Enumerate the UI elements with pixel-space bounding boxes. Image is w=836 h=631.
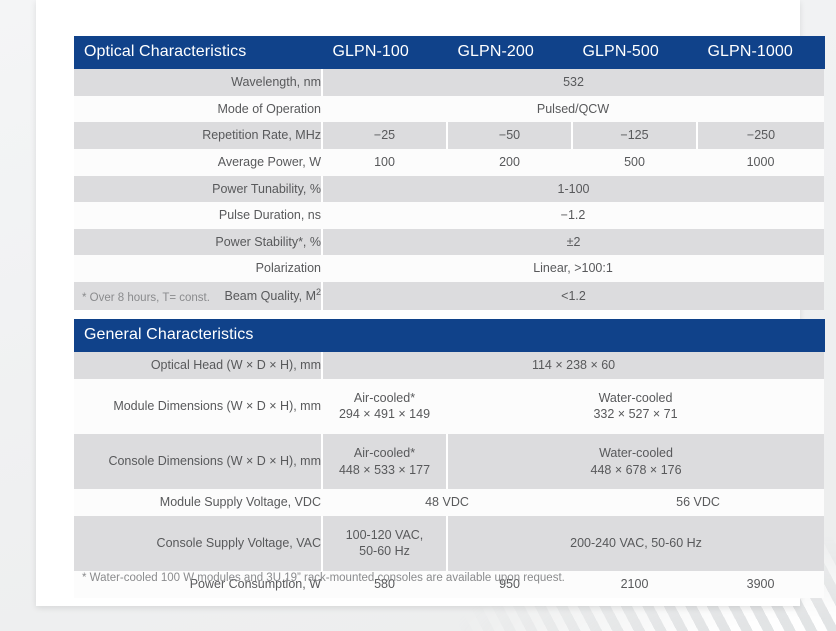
- datasheet-page-card: Optical Characteristics GLPN-100 GLPN-20…: [36, 0, 800, 606]
- table-row: PolarizationLinear, >100:1: [74, 255, 824, 282]
- general-section-title: General Characteristics: [74, 319, 824, 352]
- optical-table-header-row: Optical Characteristics GLPN-100 GLPN-20…: [74, 36, 824, 69]
- table-row-label: Repetition Rate, MHz: [74, 122, 322, 149]
- table-row-label: Console Dimensions (W × D × H), mm: [74, 434, 322, 489]
- table-cell-value: −50: [447, 122, 572, 149]
- table-row-label: Mode of Operation: [74, 96, 322, 123]
- general-characteristics-table: General Characteristics Optical Head (W …: [74, 319, 825, 598]
- table-cell-value: Pulsed/QCW: [322, 96, 824, 123]
- table-cell-value: 114 × 238 × 60: [322, 352, 824, 379]
- table-cell-value: <1.2: [322, 282, 824, 310]
- general-footnote: * Water-cooled 100 W modules and 3U 19” …: [82, 572, 565, 584]
- table-cell-value: −1.2: [322, 202, 824, 229]
- table-cell-value: 200-240 VAC, 50-60 Hz: [447, 516, 824, 571]
- table-row: Average Power, W1002005001000: [74, 149, 824, 176]
- table-cell-value: Water-cooled332 × 527 × 71: [447, 379, 824, 434]
- table-cell-value: 100: [322, 149, 447, 176]
- table-cell-value: Water-cooled448 × 678 × 176: [447, 434, 824, 489]
- table-row: Module Dimensions (W × D × H), mmAir-coo…: [74, 379, 824, 434]
- table-row: Mode of OperationPulsed/QCW: [74, 96, 824, 123]
- table-cell-value: −125: [572, 122, 697, 149]
- table-cell-value: −25: [322, 122, 447, 149]
- table-row-label: Polarization: [74, 255, 322, 282]
- table-row: Wavelength, nm532: [74, 69, 824, 96]
- table-row-label: Module Supply Voltage, VDC: [74, 489, 322, 516]
- column-header-model-1: GLPN-100: [322, 36, 447, 69]
- table-row: Pulse Duration, ns−1.2: [74, 202, 824, 229]
- table-row-label: Pulse Duration, ns: [74, 202, 322, 229]
- table-row: Power Tunability, %1-100: [74, 176, 824, 203]
- table-row-label: Module Dimensions (W × D × H), mm: [74, 379, 322, 434]
- table-cell-value: Air-cooled*294 × 491 × 149: [322, 379, 447, 434]
- table-cell-value: 3900: [697, 571, 824, 598]
- table-row: Module Supply Voltage, VDC48 VDC56 VDC: [74, 489, 824, 516]
- table-cell-value: 2100: [572, 571, 697, 598]
- table-cell-value: 1-100: [322, 176, 824, 203]
- table-cell-value: −250: [697, 122, 824, 149]
- column-header-model-4: GLPN-1000: [697, 36, 824, 69]
- table-row: Repetition Rate, MHz−25−50−125−250: [74, 122, 824, 149]
- table-cell-value: 48 VDC: [322, 489, 572, 516]
- general-table-header-row: General Characteristics: [74, 319, 824, 352]
- table-row-label: Optical Head (W × D × H), mm: [74, 352, 322, 379]
- table-cell-value: 100-120 VAC,50-60 Hz: [322, 516, 447, 571]
- column-header-model-2: GLPN-200: [447, 36, 572, 69]
- optical-footnote: * Over 8 hours, T= const.: [82, 292, 210, 304]
- page-root: Optical Characteristics GLPN-100 GLPN-20…: [0, 0, 836, 631]
- table-row-label: Power Tunability, %: [74, 176, 322, 203]
- general-table-body: Optical Head (W × D × H), mm114 × 238 × …: [74, 352, 824, 598]
- table-row: Console Supply Voltage, VAC100-120 VAC,5…: [74, 516, 824, 571]
- table-row: Power Stability*, %±2: [74, 229, 824, 256]
- column-header-model-3: GLPN-500: [572, 36, 697, 69]
- table-row: Console Dimensions (W × D × H), mmAir-co…: [74, 434, 824, 489]
- table-cell-value: 200: [447, 149, 572, 176]
- table-cell-value: 532: [322, 69, 824, 96]
- table-cell-value: 56 VDC: [572, 489, 824, 516]
- table-row-label: Power Stability*, %: [74, 229, 322, 256]
- table-row-label: Console Supply Voltage, VAC: [74, 516, 322, 571]
- optical-table-body: Wavelength, nm532Mode of OperationPulsed…: [74, 69, 824, 310]
- table-cell-value: 1000: [697, 149, 824, 176]
- table-row-label: Average Power, W: [74, 149, 322, 176]
- table-cell-value: Linear, >100:1: [322, 255, 824, 282]
- optical-section-title: Optical Characteristics: [74, 36, 322, 69]
- table-cell-value: Air-cooled*448 × 533 × 177: [322, 434, 447, 489]
- table-row: Optical Head (W × D × H), mm114 × 238 × …: [74, 352, 824, 379]
- table-row-label: Wavelength, nm: [74, 69, 322, 96]
- table-cell-value: 500: [572, 149, 697, 176]
- optical-characteristics-table: Optical Characteristics GLPN-100 GLPN-20…: [74, 36, 825, 310]
- label-superscript: 2: [316, 287, 321, 297]
- table-cell-value: ±2: [322, 229, 824, 256]
